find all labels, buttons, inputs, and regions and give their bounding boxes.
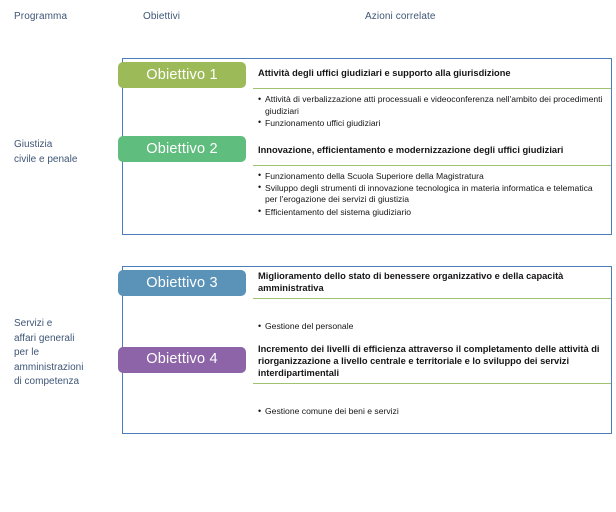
objective-group-4: Obiettivo 4 Incremento dei livelli di ef… [123, 340, 611, 425]
objective-title-1: Attività degli uffici giudiziari e suppo… [253, 59, 611, 89]
objective-title-3: Miglioramento dello stato di benessere o… [253, 267, 611, 299]
action-item: Funzionamento della Scuola Superiore del… [258, 171, 603, 183]
objective-badge-4[interactable]: Obiettivo 4 [118, 347, 246, 373]
column-header-obiettivi: Obiettivi [143, 11, 180, 22]
action-item: Attività di verbalizzazione atti process… [258, 94, 603, 117]
objective-header-4: Obiettivo 4 Incremento dei livelli di ef… [123, 340, 611, 385]
objective-badge-2[interactable]: Obiettivo 2 [118, 136, 246, 162]
column-header-programma: Programma [14, 11, 67, 22]
action-item: Sviluppo degli strumenti di innovazione … [258, 183, 603, 206]
objective-header-2: Obiettivo 2 Innovazione, efficientamento… [123, 136, 611, 166]
objective-header-3: Obiettivo 3 Miglioramento dello stato di… [123, 267, 611, 299]
objective-title-2: Innovazione, efficientamento e modernizz… [253, 136, 611, 166]
objective-header-1: Obiettivo 1 Attività degli uffici giudiz… [123, 59, 611, 89]
objectives-panel-servizi: Obiettivo 3 Miglioramento dello stato di… [122, 266, 612, 434]
objective-actions-1: Attività di verbalizzazione atti process… [253, 89, 611, 136]
objective-actions-4: Gestione comune dei beni e servizi [253, 384, 611, 424]
action-item: Funzionamento uffici giudiziari [258, 118, 603, 130]
objective-actions-2: Funzionamento della Scuola Superiore del… [253, 166, 611, 225]
program-label-giustizia: Giustiziacivile e penale [14, 138, 120, 167]
objective-group-2: Obiettivo 2 Innovazione, efficientamento… [123, 136, 611, 225]
objective-actions-3: Gestione del personale [253, 299, 611, 339]
objectives-panel-giustizia: Obiettivo 1 Attività degli uffici giudiz… [122, 58, 612, 235]
action-item: Gestione del personale [258, 321, 603, 333]
action-item: Gestione comune dei beni e servizi [258, 406, 603, 418]
program-label-servizi: Servizi eaffari generaliper leamministra… [14, 317, 120, 390]
objective-group-3: Obiettivo 3 Miglioramento dello stato di… [123, 267, 611, 340]
action-item: Efficientamento del sistema giudiziario [258, 207, 603, 219]
objective-title-4: Incremento dei livelli di efficienza att… [253, 340, 611, 385]
objective-badge-3[interactable]: Obiettivo 3 [118, 270, 246, 296]
objective-badge-1[interactable]: Obiettivo 1 [118, 62, 246, 88]
column-header-azioni: Azioni correlate [365, 11, 436, 22]
objective-group-1: Obiettivo 1 Attività degli uffici giudiz… [123, 59, 611, 136]
